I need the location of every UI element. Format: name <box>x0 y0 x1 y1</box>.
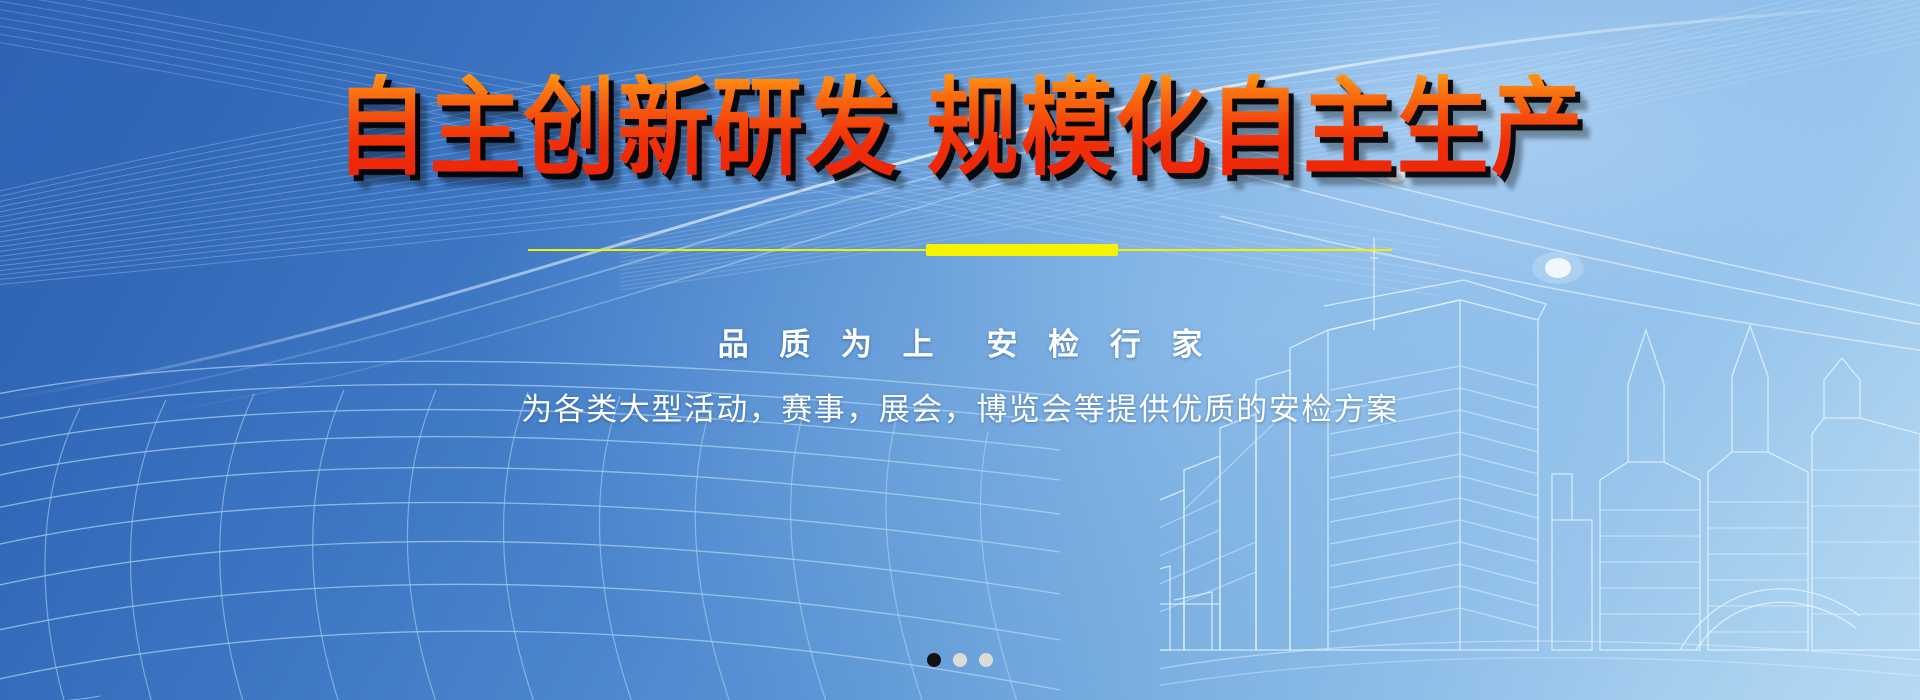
slogan-text: 品 质 为 上 安 检 行 家 <box>707 319 1214 364</box>
carousel-pagination[interactable] <box>927 653 993 667</box>
carousel-dot-3[interactable] <box>979 653 993 667</box>
carousel-dot-2[interactable] <box>953 653 967 667</box>
page-title: 自主创新研发 规模化自主生产 <box>335 74 1585 185</box>
carousel-dot-1[interactable] <box>927 653 941 667</box>
divider-thick-bar <box>926 244 1118 256</box>
yellow-divider <box>528 243 1392 257</box>
banner-content: 自主创新研发 规模化自主生产 品 质 为 上 安 检 行 家 为各类大型活动，赛… <box>0 0 1920 700</box>
hero-banner: 自主创新研发 规模化自主生产 品 质 为 上 安 检 行 家 为各类大型活动，赛… <box>0 0 1920 700</box>
tagline-text: 为各类大型活动，赛事，展会，博览会等提供优质的安检方案 <box>521 384 1399 429</box>
